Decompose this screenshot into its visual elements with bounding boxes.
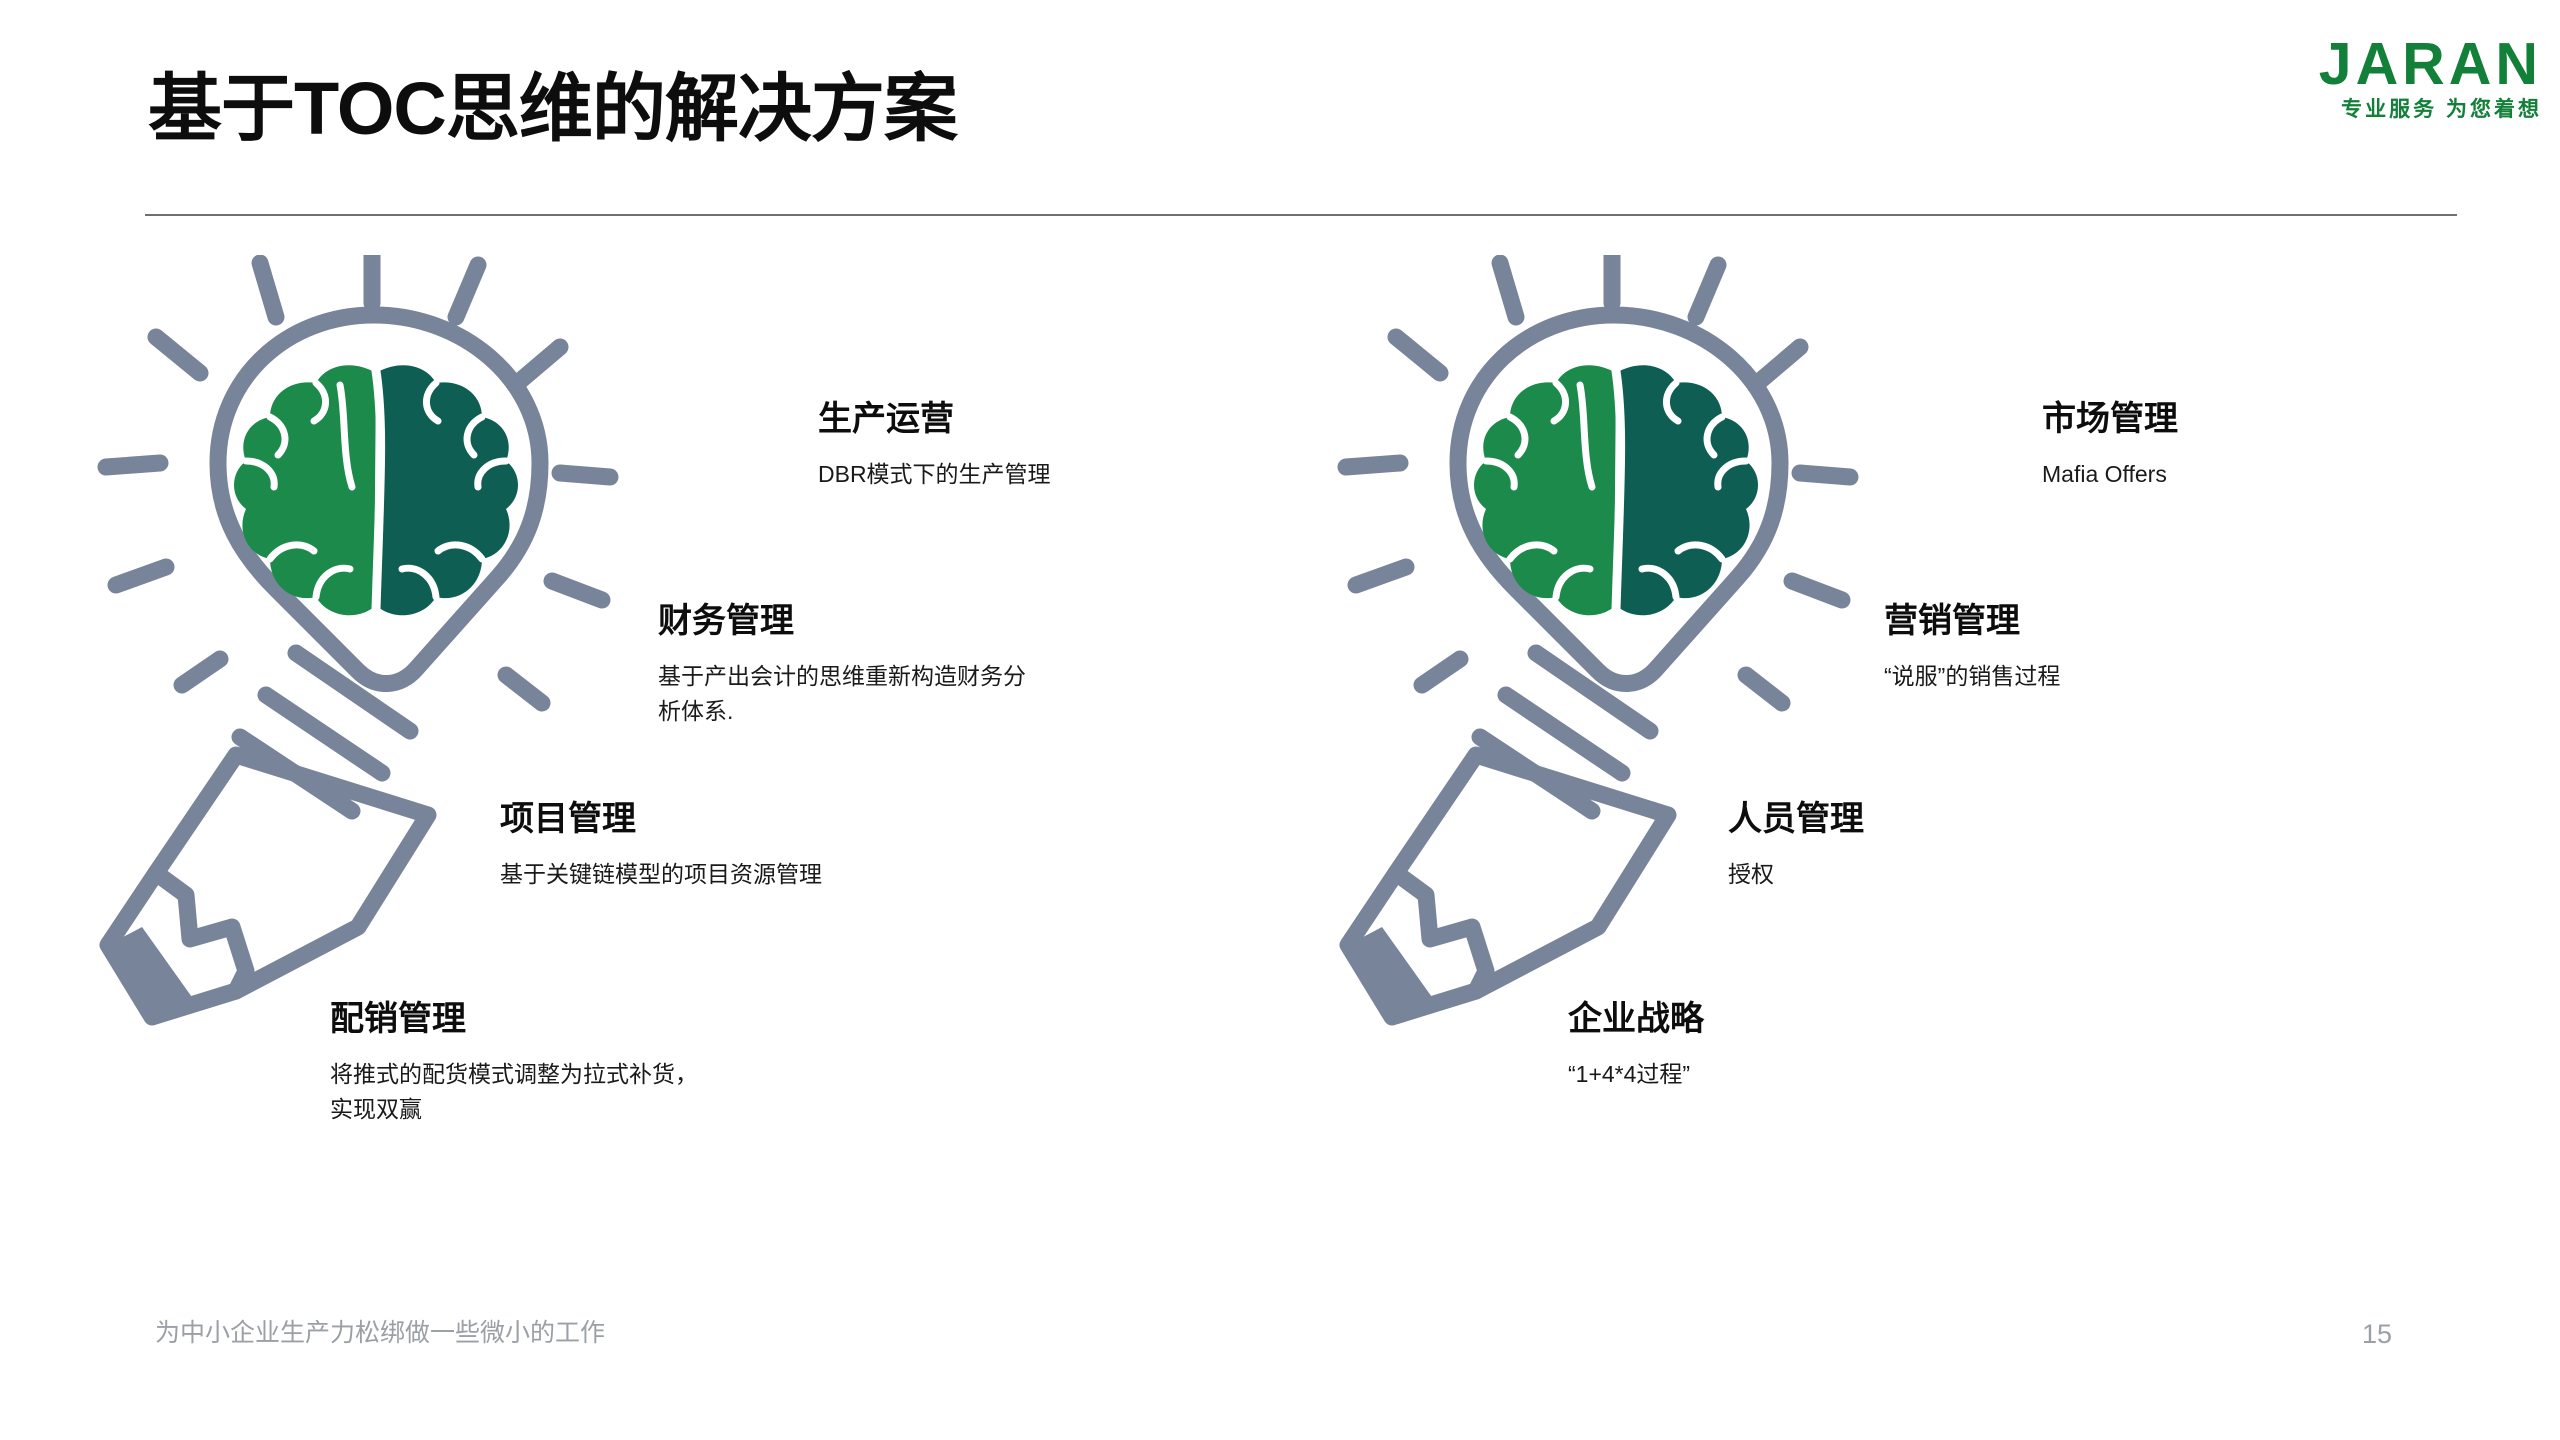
logo-tagline: 专业服务 为您着想	[2242, 99, 2542, 120]
footer-note: 为中小企业生产力松绑做一些微小的工作	[155, 1318, 605, 1348]
topic-description: “说服”的销售过程	[1884, 659, 2060, 694]
topic-title: 配销管理	[330, 1000, 698, 1039]
logo-wordmark: JARAN	[2242, 36, 2542, 92]
topic-title: 企业战略	[1568, 1000, 1704, 1039]
topic-title: 项目管理	[500, 800, 822, 839]
topic-item-distribution-management: 配销管理 将推式的配货模式调整为拉式补货， 实现双赢	[330, 1000, 698, 1126]
topic-item-project-management: 项目管理 基于关键链模型的项目资源管理	[500, 800, 822, 892]
brand-logo: JARAN 专业服务 为您着想	[2242, 36, 2542, 120]
topic-item-production-operations: 生产运营 DBR模式下的生产管理	[818, 400, 1051, 492]
lightbulb-brain-pencil-icon-right	[1330, 255, 1890, 1075]
topic-item-market-management: 市场管理 Mafia Offers	[2042, 400, 2178, 492]
topic-title: 人员管理	[1728, 800, 1864, 839]
topic-item-people-management: 人员管理 授权	[1728, 800, 1864, 892]
topic-description: 基于产出会计的思维重新构造财务分 析体系.	[658, 659, 1026, 728]
slide-canvas: 基于TOC思维的解决方案 JARAN 专业服务 为您着想	[0, 0, 2560, 1440]
topic-description: Mafia Offers	[2042, 457, 2178, 492]
topic-description: 将推式的配货模式调整为拉式补货， 实现双赢	[330, 1057, 698, 1126]
topic-title: 市场管理	[2042, 400, 2178, 439]
topic-title: 生产运营	[818, 400, 1051, 439]
page-title: 基于TOC思维的解决方案	[148, 72, 957, 146]
topic-item-corporate-strategy: 企业战略 “1+4*4过程”	[1568, 1000, 1704, 1092]
topic-description: “1+4*4过程”	[1568, 1057, 1704, 1092]
topic-description: DBR模式下的生产管理	[818, 457, 1051, 492]
page-number: 15	[2362, 1318, 2392, 1350]
topic-description: 授权	[1728, 857, 1864, 892]
topic-item-financial-management: 财务管理 基于产出会计的思维重新构造财务分 析体系.	[658, 602, 1026, 728]
topic-title: 财务管理	[658, 602, 1026, 641]
topic-item-marketing-management: 营销管理 “说服”的销售过程	[1884, 602, 2060, 694]
lightbulb-brain-pencil-icon-left	[90, 255, 650, 1075]
topic-title: 营销管理	[1884, 602, 2060, 641]
topic-description: 基于关键链模型的项目资源管理	[500, 857, 822, 892]
header-divider	[145, 214, 2457, 216]
